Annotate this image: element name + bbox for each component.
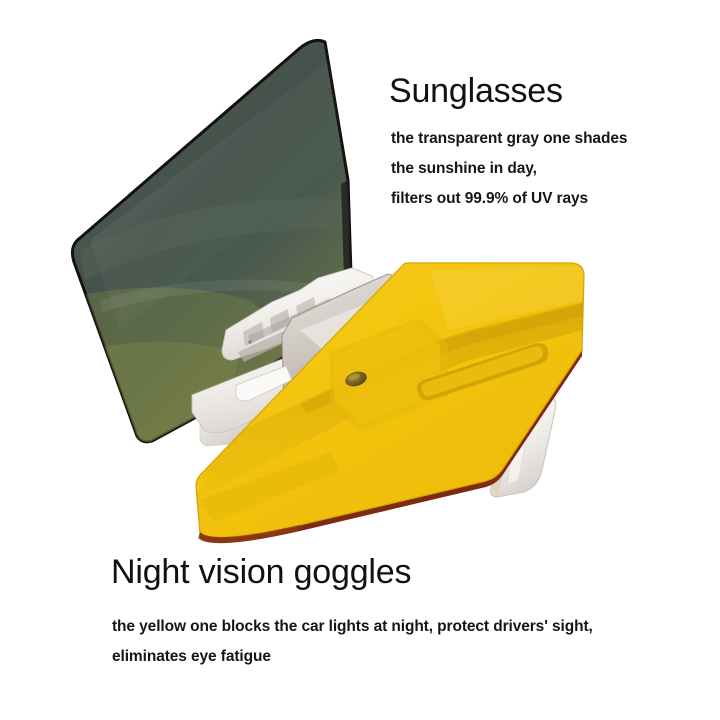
product-image-canvas: Sunglasses the transparent gray one shad… (0, 0, 720, 720)
product-illustration (0, 0, 720, 720)
night-vision-description-line-1: the yellow one blocks the car lights at … (112, 618, 593, 636)
sunglasses-description-line-3: filters out 99.9% of UV rays (391, 190, 588, 208)
sunglasses-heading: Sunglasses (389, 72, 563, 110)
night-vision-description-line-2: eliminates eye fatigue (112, 648, 271, 666)
sunglasses-description-line-1: the transparent gray one shades (391, 130, 627, 148)
sunglasses-description-line-2: the sunshine in day, (391, 160, 537, 178)
night-vision-heading: Night vision goggles (111, 553, 411, 591)
